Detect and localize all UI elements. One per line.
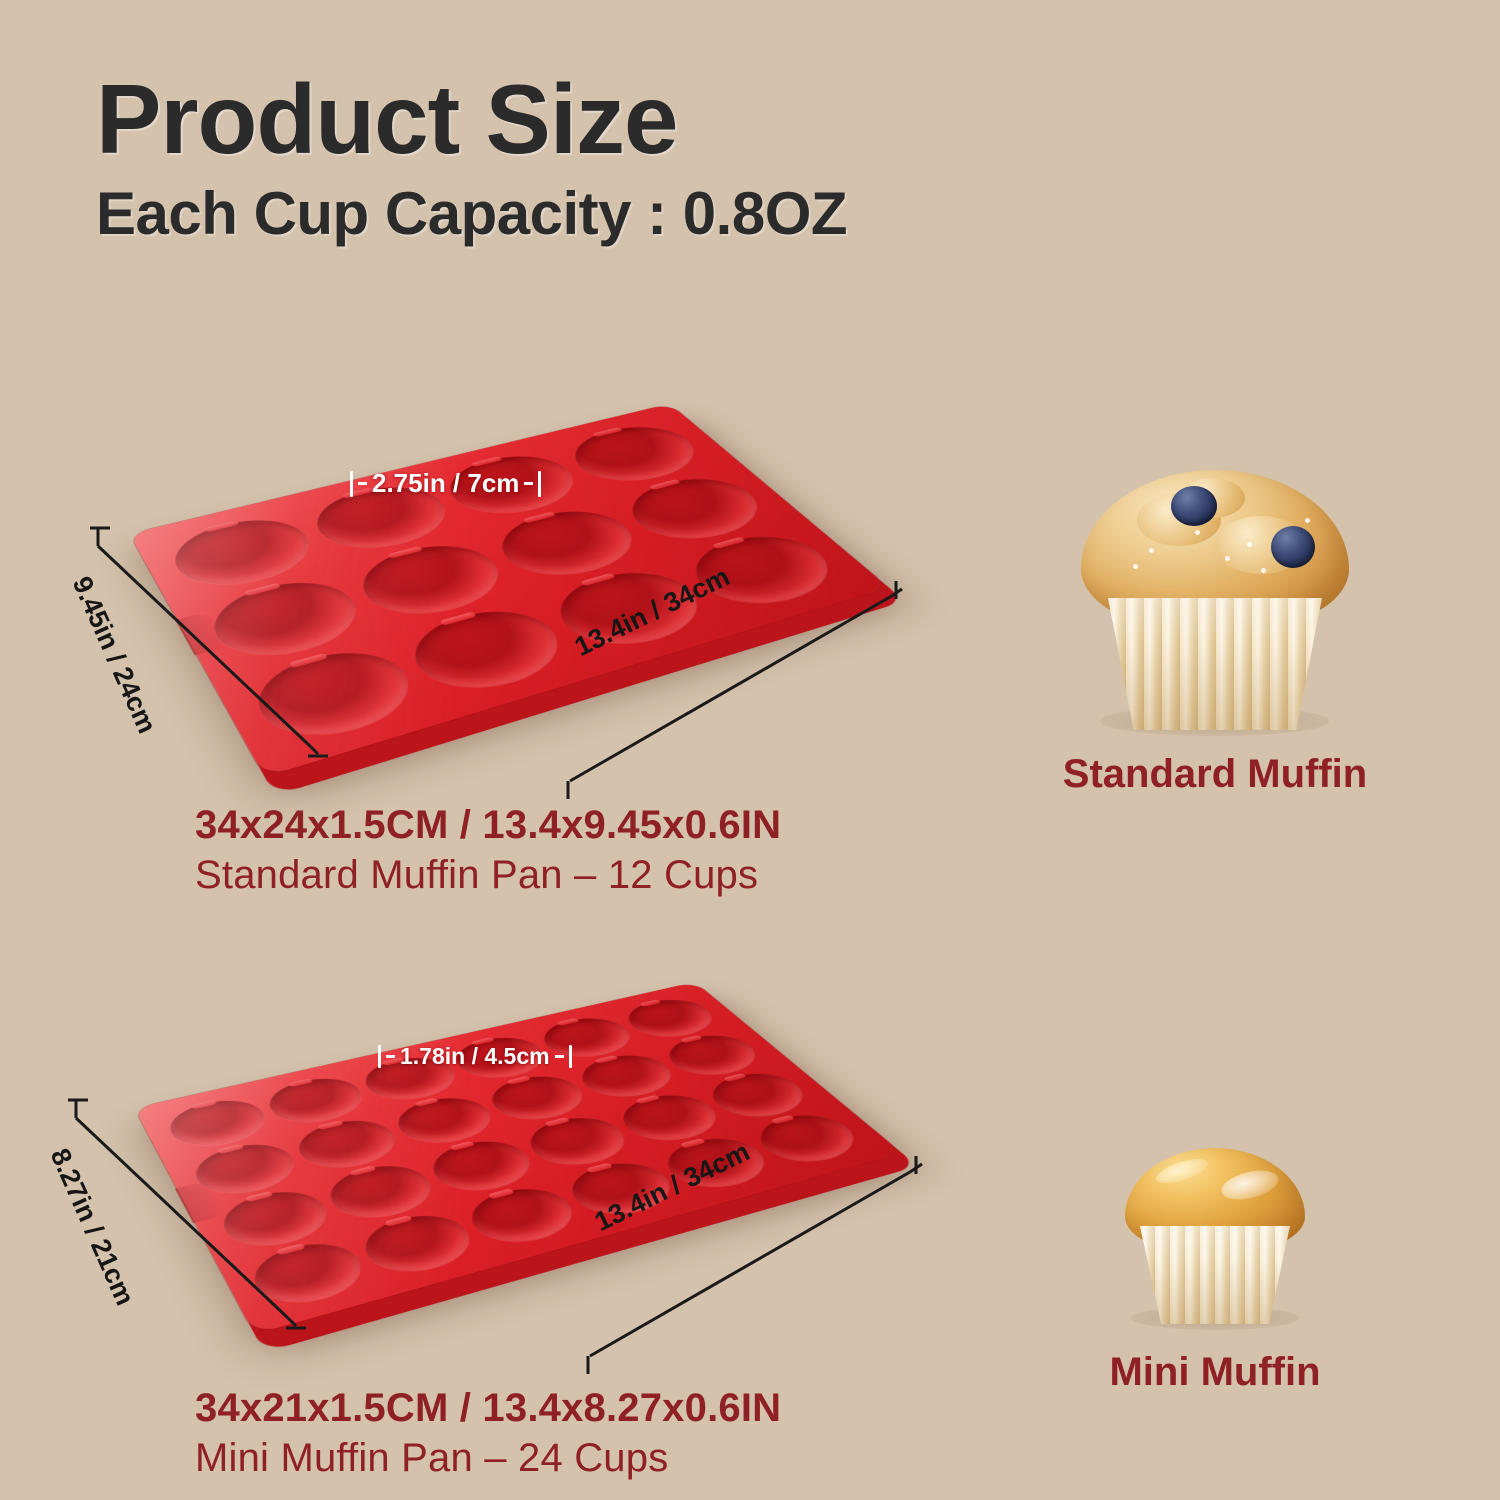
mini-muffin-block: Mini Muffin (1010, 1130, 1420, 1395)
standard-muffin-block: Standard Muffin (1010, 460, 1420, 797)
sugar-crystal (1149, 548, 1154, 553)
blueberry (1271, 526, 1315, 568)
muffin-paper-liner (1140, 1226, 1290, 1324)
blueberry (1171, 486, 1217, 526)
mini-pan-name-text: Mini Muffin Pan – 24 Cups (195, 1433, 781, 1483)
standard-cup-diameter-label: 2.75in / 7cm (350, 468, 541, 499)
pan-cup (386, 1091, 504, 1151)
mini-cup-diameter-text: 1.78in / 4.5cm (400, 1043, 550, 1070)
sugar-crystal (1225, 556, 1230, 561)
mini-pan-size-text: 34x21x1.5CM / 13.4x8.27x0.6IN (195, 1383, 781, 1433)
dimension-tick-right (538, 471, 541, 497)
standard-length-dimension: 13.4in / 34cm (560, 575, 920, 805)
standard-pan-name-text: Standard Muffin Pan – 12 Cups (195, 850, 781, 900)
standard-muffin-label: Standard Muffin (1010, 752, 1420, 797)
pan-cup (396, 599, 579, 702)
product-size-infographic: Product Size Each Cup Capacity : 0.8OZ (0, 0, 1500, 1500)
header: Product Size Each Cup Capacity : 0.8OZ (96, 70, 1196, 245)
standard-pan-caption: 34x24x1.5CM / 13.4x9.45x0.6IN Standard M… (195, 800, 781, 900)
mini-cup-diameter-label: 1.78in / 4.5cm (378, 1043, 572, 1070)
length-dimension-line (580, 1150, 940, 1380)
dimension-tick-left (378, 1045, 381, 1068)
standard-pan-size-text: 34x24x1.5CM / 13.4x9.45x0.6IN (195, 800, 781, 850)
pan-cup (483, 501, 652, 587)
dimension-tick-left (350, 471, 353, 497)
mini-muffin-image (1115, 1130, 1315, 1330)
dimension-dash-left (358, 482, 367, 485)
standard-cup-diameter-text: 2.75in / 7cm (372, 468, 519, 499)
pan-cup (420, 1134, 543, 1199)
dimension-dash-right (555, 1055, 564, 1058)
dimension-dash-left (386, 1055, 395, 1058)
sugar-crystal (1261, 568, 1266, 573)
sugar-crystal (1247, 542, 1252, 547)
mini-length-dimension: 13.4in / 34cm (580, 1150, 940, 1380)
capacity-subtitle: Each Cup Capacity : 0.8OZ (96, 182, 1196, 245)
pan-cup (353, 1207, 484, 1281)
sugar-crystal (1195, 530, 1200, 535)
page-title: Product Size (96, 70, 1196, 168)
standard-muffin-image (1075, 460, 1355, 730)
sugar-crystal (1133, 564, 1138, 569)
standard-depth-dimension: 9.45in / 24cm (88, 520, 388, 760)
dimension-tick-right (569, 1045, 572, 1068)
mini-depth-dimension: 8.27in / 21cm (66, 1092, 366, 1332)
sugar-crystal (1305, 518, 1310, 523)
dimension-dash-right (524, 482, 533, 485)
mini-muffin-label: Mini Muffin (1010, 1350, 1420, 1395)
pan-cup (457, 1180, 587, 1251)
length-dimension-line (560, 575, 920, 805)
muffin-paper-liner (1108, 598, 1322, 730)
mini-pan-caption: 34x21x1.5CM / 13.4x8.27x0.6IN Mini Muffi… (195, 1383, 781, 1483)
